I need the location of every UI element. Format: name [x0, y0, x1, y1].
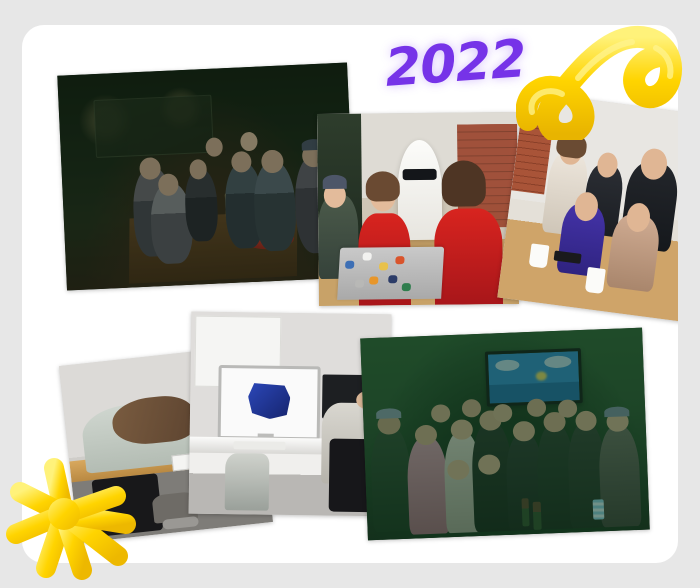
photo-pub-group[interactable]: [57, 63, 356, 291]
person-head: [526, 398, 546, 417]
laptop-sticker: [378, 262, 387, 270]
tv-cloud: [495, 359, 519, 371]
person-head: [493, 403, 513, 422]
party-person: [369, 426, 412, 532]
person-head: [430, 404, 450, 423]
red-sweater-person-2: [434, 208, 503, 305]
party-person-pink: [406, 436, 449, 534]
photo-ghost-macbook[interactable]: [317, 112, 519, 306]
wall-tv: [485, 348, 583, 406]
photo-party-group[interactable]: [360, 328, 650, 541]
person-head: [575, 410, 597, 431]
paper-cup: [585, 267, 606, 294]
tv-sun: [536, 371, 547, 381]
keyboard: [233, 441, 285, 450]
laptop-sticker: [345, 262, 354, 270]
pub-person-head: [139, 157, 160, 179]
macbook-laptop: [337, 247, 444, 300]
photo-party-content: [360, 328, 650, 541]
photo-office-meeting[interactable]: [497, 91, 678, 323]
beanie-hat: [604, 406, 630, 417]
photo-ghost-content: [317, 112, 519, 306]
pub-person-head: [240, 131, 258, 151]
person-hair: [555, 131, 587, 160]
person-head: [451, 419, 473, 440]
cad-model-3d: [248, 383, 291, 419]
laptop-sticker: [354, 280, 363, 288]
pub-person-head: [205, 137, 223, 157]
imac-display: [218, 365, 321, 441]
collage-canvas: УШЛА: [0, 0, 700, 588]
page-title-year: 2022: [383, 29, 528, 99]
pub-person-head: [189, 159, 207, 179]
person-head: [557, 399, 577, 418]
laptop-sticker: [395, 257, 404, 265]
person-hair: [441, 160, 485, 207]
laptop-sticker: [388, 276, 397, 284]
collage-card: УШЛА: [22, 25, 678, 563]
second-person: [225, 453, 270, 510]
beanie-hat: [376, 408, 402, 419]
sunglasses-icon: [403, 168, 437, 180]
pub-chalkboard: [93, 95, 214, 158]
person-head: [461, 399, 481, 418]
striped-cup: [592, 499, 604, 520]
tv-cloud: [544, 355, 571, 368]
beanie-hat: [323, 175, 347, 189]
pub-person-head: [158, 174, 179, 196]
laptop-sticker: [362, 253, 371, 261]
paper-cup: [529, 243, 549, 268]
party-person-glasses: [598, 425, 641, 527]
bottle: [533, 501, 541, 530]
photo-office-content: [497, 91, 678, 323]
person-hair: [366, 171, 400, 202]
laptop-sticker: [402, 284, 411, 292]
laptop-sticker: [369, 277, 378, 285]
pub-person: [253, 160, 298, 252]
photo-pub-content: [57, 63, 356, 291]
